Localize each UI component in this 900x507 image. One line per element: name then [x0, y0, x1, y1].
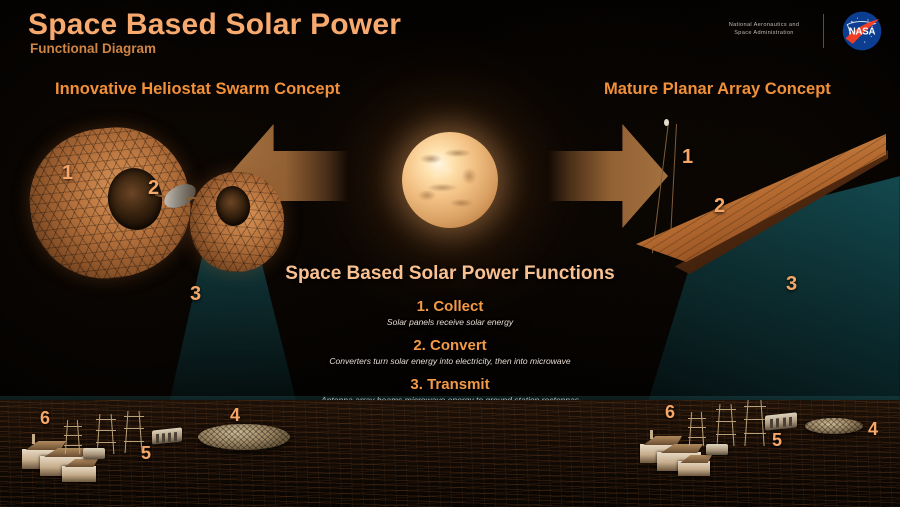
marker-left-1: 1 — [62, 162, 73, 185]
house-building — [62, 466, 96, 482]
transmission-pylon — [688, 412, 706, 446]
array-mast-tip — [664, 119, 669, 126]
ground-marker-right-6: 6 — [665, 402, 675, 423]
step-2-label: 2. Convert — [0, 337, 900, 355]
sun-illustration — [402, 132, 498, 228]
agency-line-1: National Aeronautics and — [716, 21, 812, 29]
rectenna-dish — [198, 424, 290, 450]
ground-marker-left-6: 6 — [40, 408, 50, 429]
heading-right-concept: Mature Planar Array Concept — [604, 80, 831, 99]
marker-right-1: 1 — [682, 146, 693, 169]
header-divider — [823, 14, 824, 48]
svg-text:NASA: NASA — [849, 27, 876, 38]
page-title: Space Based Solar Power — [28, 8, 401, 42]
page-subtitle: Functional Diagram — [30, 41, 156, 56]
transmission-pylon — [716, 404, 736, 446]
function-step-1: 1. Collect Solar panels receive solar en… — [0, 298, 900, 329]
transmission-pylon — [64, 420, 82, 454]
ground-marker-left-4: 4 — [230, 405, 240, 426]
chimney — [650, 430, 653, 439]
house-building — [678, 461, 710, 476]
nasa-agency-text: National Aeronautics and Space Administr… — [716, 21, 812, 37]
infographic-canvas: Space Based Solar Power Functional Diagr… — [0, 0, 900, 507]
rectenna-dish — [805, 418, 863, 434]
ground-marker-right-5: 5 — [772, 430, 782, 451]
transmission-pylon — [744, 400, 766, 446]
ground-marker-right-4: 4 — [868, 419, 878, 440]
marker-left-2: 2 — [148, 177, 159, 200]
heading-left-concept: Innovative Heliostat Swarm Concept — [55, 80, 340, 99]
marker-right-2: 2 — [714, 195, 725, 218]
functions-heading: Space Based Solar Power Functions — [0, 263, 900, 285]
step-1-label: 1. Collect — [0, 298, 900, 316]
step-2-description: Converters turn solar energy into electr… — [0, 355, 900, 368]
ground-marker-left-5: 5 — [141, 443, 151, 464]
small-substation — [83, 448, 105, 459]
small-substation — [706, 444, 728, 455]
function-step-2: 2. Convert Converters turn solar energy … — [0, 337, 900, 368]
step-3-label: 3. Transmit — [0, 376, 900, 394]
step-1-description: Solar panels receive solar energy — [0, 316, 900, 329]
nasa-meatball-logo: NASA — [836, 8, 888, 54]
agency-line-2: Space Administration — [716, 29, 812, 37]
sun-surface-texture — [402, 132, 498, 228]
chimney — [32, 434, 35, 444]
